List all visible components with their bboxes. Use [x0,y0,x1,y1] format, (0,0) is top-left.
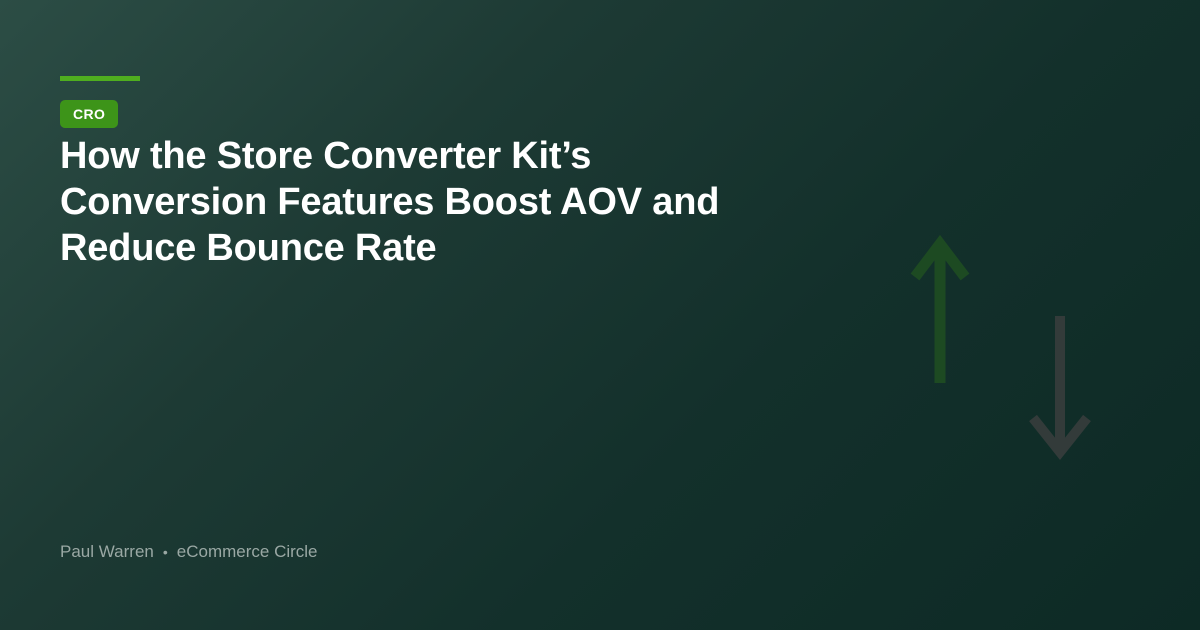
arrow-down-icon [1033,316,1087,452]
arrow-up-icon [915,244,965,383]
byline: Paul Warren • eCommerce Circle [60,542,318,562]
category-badge: CRO [60,100,118,128]
category-badge-label: CRO [73,106,105,122]
social-share-card: CRO How the Store Converter Kit’s Conver… [0,0,1200,630]
card-content: CRO How the Store Converter Kit’s Conver… [60,0,760,630]
accent-rule [60,76,140,81]
byline-separator: • [163,545,168,559]
byline-publication: eCommerce Circle [177,542,318,562]
byline-author: Paul Warren [60,542,154,562]
page-title: How the Store Converter Kit’s Conversion… [60,133,720,271]
